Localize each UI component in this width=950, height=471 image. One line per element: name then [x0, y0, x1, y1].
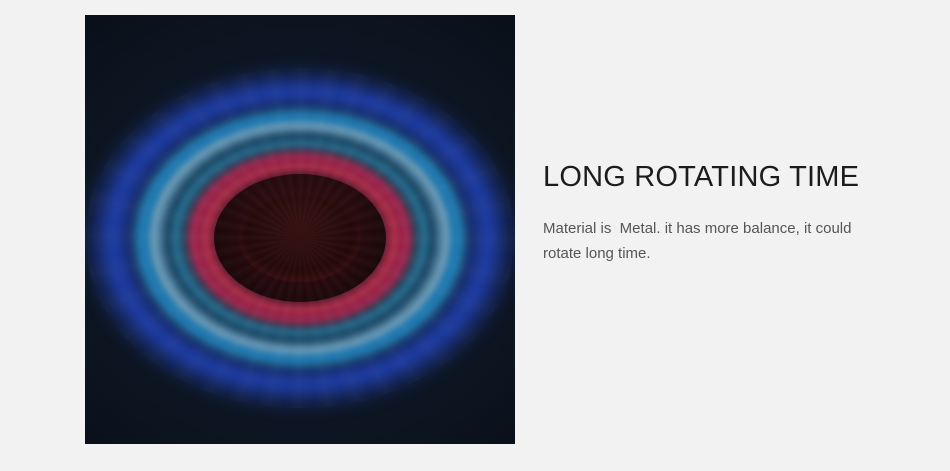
product-image-panel	[85, 15, 515, 444]
fidget-spinner-light-trails-image	[85, 68, 515, 408]
feature-headline: LONG ROTATING TIME	[543, 160, 903, 195]
feature-description: Material is Metal. it has more balance, …	[543, 217, 873, 267]
feature-text-column: LONG ROTATING TIME Material is Metal. it…	[543, 160, 903, 266]
spinner-hub-inner	[239, 194, 361, 282]
product-feature-banner: LONG ROTATING TIME Material is Metal. it…	[0, 0, 950, 471]
